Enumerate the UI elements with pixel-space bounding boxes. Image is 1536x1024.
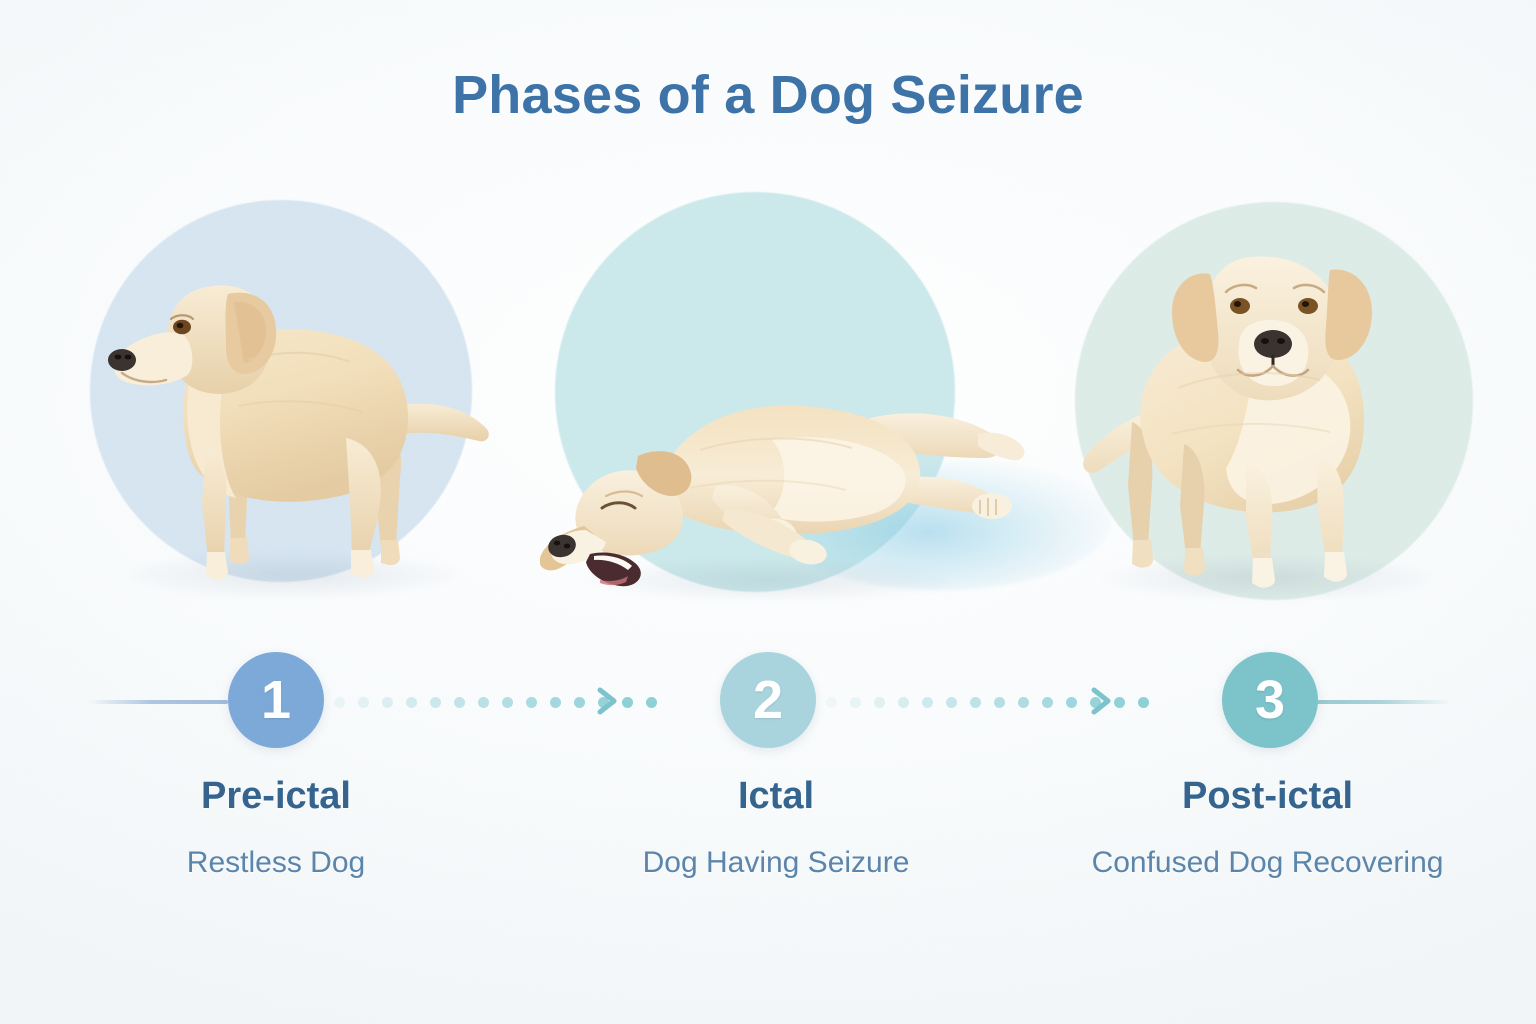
step-marker-1[interactable]: 1 [228, 652, 324, 748]
connector-dot [358, 697, 369, 708]
phase-subtitle: Confused Dog Recovering [1065, 845, 1470, 881]
connector-dot [898, 697, 909, 708]
step-marker-3[interactable]: 3 [1222, 652, 1318, 748]
phase-subtitle: Restless Dog [76, 845, 476, 881]
connector-dot [454, 697, 465, 708]
step-number: 1 [261, 669, 291, 731]
connector-dot [1138, 697, 1149, 708]
timeline-rail-left [88, 700, 228, 704]
step-number: 3 [1255, 669, 1285, 731]
dog-standing-alert-icon [78, 210, 508, 610]
connector-dot [874, 697, 885, 708]
caption-post-ictal: Post-ictal Confused Dog Recovering [1065, 775, 1470, 881]
scene-ictal [530, 180, 1030, 640]
chevron-right-icon [596, 686, 622, 716]
connector-dot [646, 697, 657, 708]
connector-dot [970, 697, 981, 708]
connector-dot [946, 697, 957, 708]
phase-timeline: 1 2 3 [0, 652, 1536, 752]
connector-dot [622, 697, 633, 708]
connector-dot [574, 697, 585, 708]
step-marker-2[interactable]: 2 [720, 652, 816, 748]
connector-dot [1066, 697, 1077, 708]
captions-row: Pre-ictal Restless Dog Ictal Dog Having … [0, 775, 1536, 935]
caption-pre-ictal: Pre-ictal Restless Dog [76, 775, 476, 881]
connector-dot [382, 697, 393, 708]
connector-dot [526, 697, 537, 708]
scene-pre-ictal [60, 180, 520, 640]
connector-dot [406, 697, 417, 708]
phase-title: Ictal [576, 775, 976, 819]
scenes-row [0, 180, 1536, 640]
step-number: 2 [753, 669, 783, 731]
connector-dot [1018, 697, 1029, 708]
connector-dot [994, 697, 1005, 708]
timeline-rail-right [1312, 700, 1452, 704]
dog-lying-seizing-icon [540, 330, 1040, 610]
dog-standing-confused-icon [1068, 208, 1488, 608]
phase-subtitle: Dog Having Seizure [576, 845, 976, 881]
connector-dot [850, 697, 861, 708]
connector-dot [430, 697, 441, 708]
phase-title: Post-ictal [1065, 775, 1470, 819]
connector-dot [334, 697, 345, 708]
connector-dot [826, 697, 837, 708]
connector-dot [478, 697, 489, 708]
connector-dot [550, 697, 561, 708]
phase-title: Pre-ictal [76, 775, 476, 819]
page-title: Phases of a Dog Seizure [0, 64, 1536, 126]
infographic-canvas: Phases of a Dog Seizure [0, 0, 1536, 1024]
connector-dot [502, 697, 513, 708]
connector-dot [922, 697, 933, 708]
chevron-right-icon [1090, 686, 1116, 716]
caption-ictal: Ictal Dog Having Seizure [576, 775, 976, 881]
connector-dot [1042, 697, 1053, 708]
scene-post-ictal [1060, 180, 1500, 640]
